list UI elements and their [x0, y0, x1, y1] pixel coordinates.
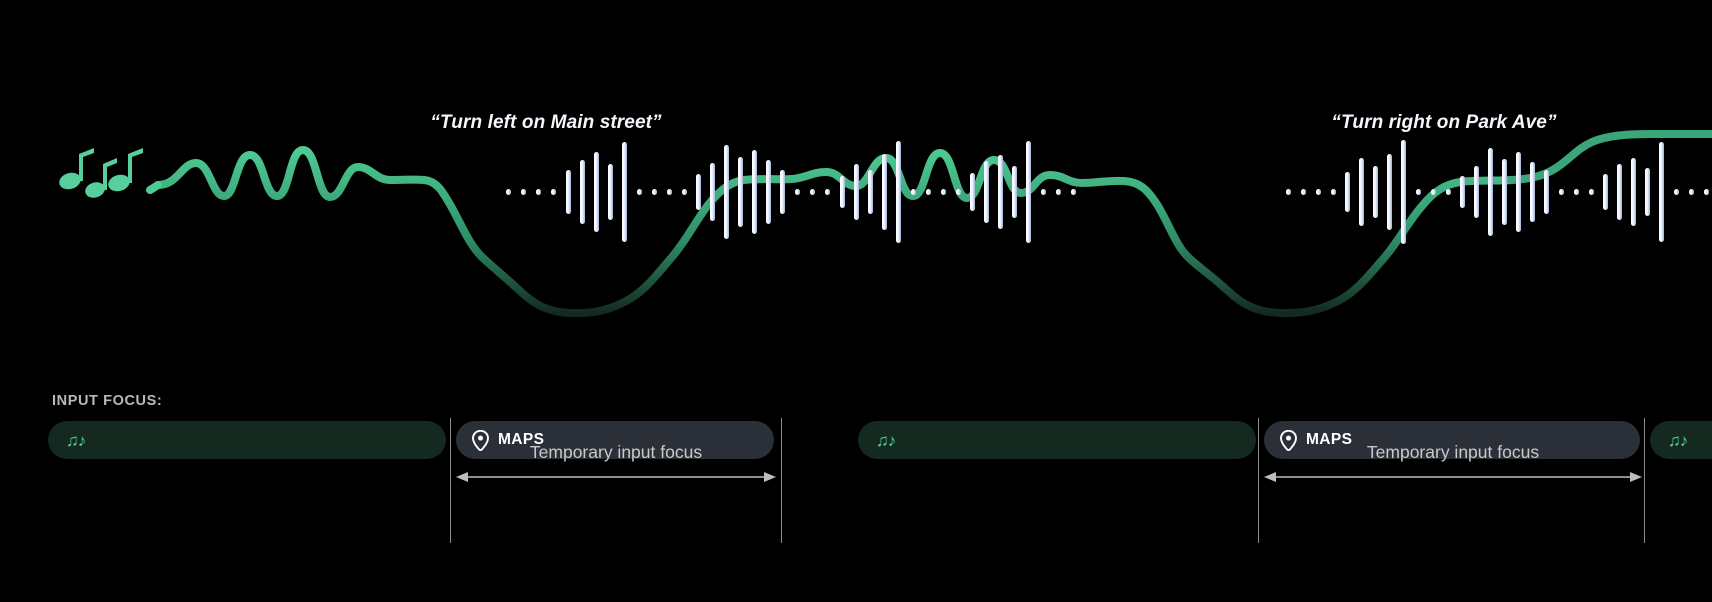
music-notes-icon: ♫♪	[66, 432, 85, 449]
focus-segment-music-3[interactable]: ♫♪	[1650, 421, 1712, 459]
music-notes-icon: ♫♪	[1668, 432, 1687, 449]
double-arrow-icon	[456, 470, 776, 484]
caption-turn-left: “Turn left on Main street”	[430, 112, 661, 134]
segment-divider-4	[1644, 418, 1645, 543]
segment-divider-2	[781, 418, 782, 543]
temporary-focus-span-label: Temporary input focus	[456, 442, 776, 463]
waveform-graphic	[0, 0, 1712, 345]
caption-turn-right: “Turn right on Park Ave”	[1331, 112, 1556, 134]
voice-bars-segment-2	[1286, 140, 1709, 244]
music-notes-icon: ♫♪	[876, 432, 895, 449]
input-focus-label: INPUT FOCUS:	[52, 393, 162, 409]
segment-divider-1	[450, 418, 451, 543]
temporary-focus-span-label: Temporary input focus	[1264, 442, 1642, 463]
focus-segment-music-2[interactable]: ♫♪	[858, 421, 1256, 459]
double-arrow-icon	[1264, 470, 1642, 484]
segment-divider-3	[1258, 418, 1259, 543]
input-focus-section: INPUT FOCUS: ♫♪ MAPS ♫♪ MAPS ♫♪	[0, 380, 1712, 602]
focus-segment-music-1[interactable]: ♫♪	[48, 421, 446, 459]
waveform-stage: “Turn left on Main street” “Turn right o…	[0, 0, 1712, 345]
green-signal-line	[150, 134, 1712, 313]
music-notes-icon	[57, 148, 143, 200]
voice-bars-segment-1	[506, 141, 1076, 243]
